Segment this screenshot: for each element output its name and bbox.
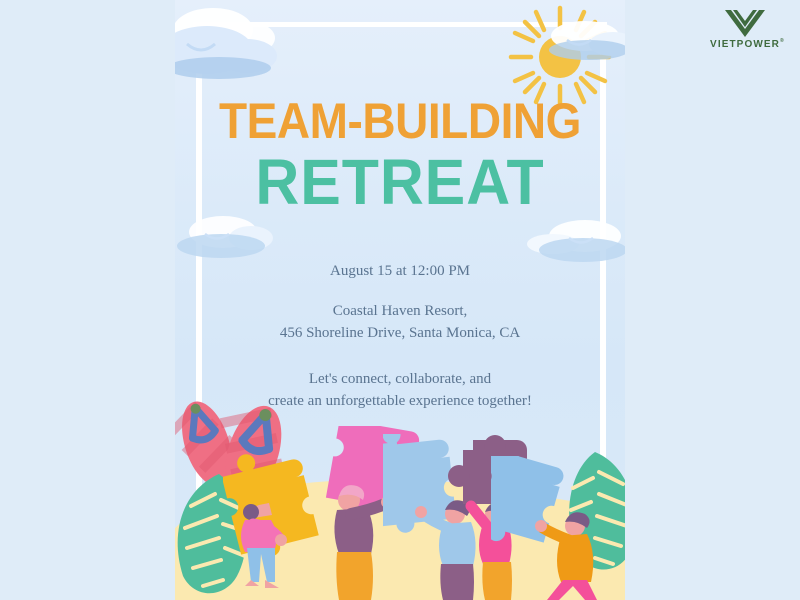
message-line-1: Let's connect, collaborate, and xyxy=(175,369,625,391)
cloud-icon xyxy=(527,16,625,72)
poster-title-line2: RETREAT xyxy=(186,150,614,214)
brand-logo: VIETPOWER® xyxy=(706,8,784,50)
vietpower-v-logo-icon xyxy=(722,8,768,38)
trademark-symbol: ® xyxy=(780,38,785,44)
event-poster: TEAM-BUILDING RETREAT August 15 at 12:00… xyxy=(175,0,625,600)
event-datetime: August 15 at 12:00 PM xyxy=(175,261,625,283)
brand-wordmark: VIETPOWER® xyxy=(706,39,784,50)
poster-canvas: VIETPOWER® xyxy=(0,0,800,600)
poster-title-block: TEAM-BUILDING RETREAT xyxy=(175,96,625,214)
person-orange-coat xyxy=(535,512,597,600)
venue-line-1: Coastal Haven Resort, xyxy=(175,301,625,323)
venue-line-2: 456 Shoreline Drive, Santa Monica, CA xyxy=(175,323,625,345)
cloud-icon xyxy=(175,4,297,84)
beach-illustration xyxy=(175,390,625,600)
person-orange-coat-with-puzzle xyxy=(491,456,625,600)
poster-title-line1: TEAM-BUILDING xyxy=(193,96,607,146)
brand-wordmark-text: VIETPOWER xyxy=(710,39,780,50)
event-venue: Coastal Haven Resort, 456 Shoreline Driv… xyxy=(175,301,625,345)
